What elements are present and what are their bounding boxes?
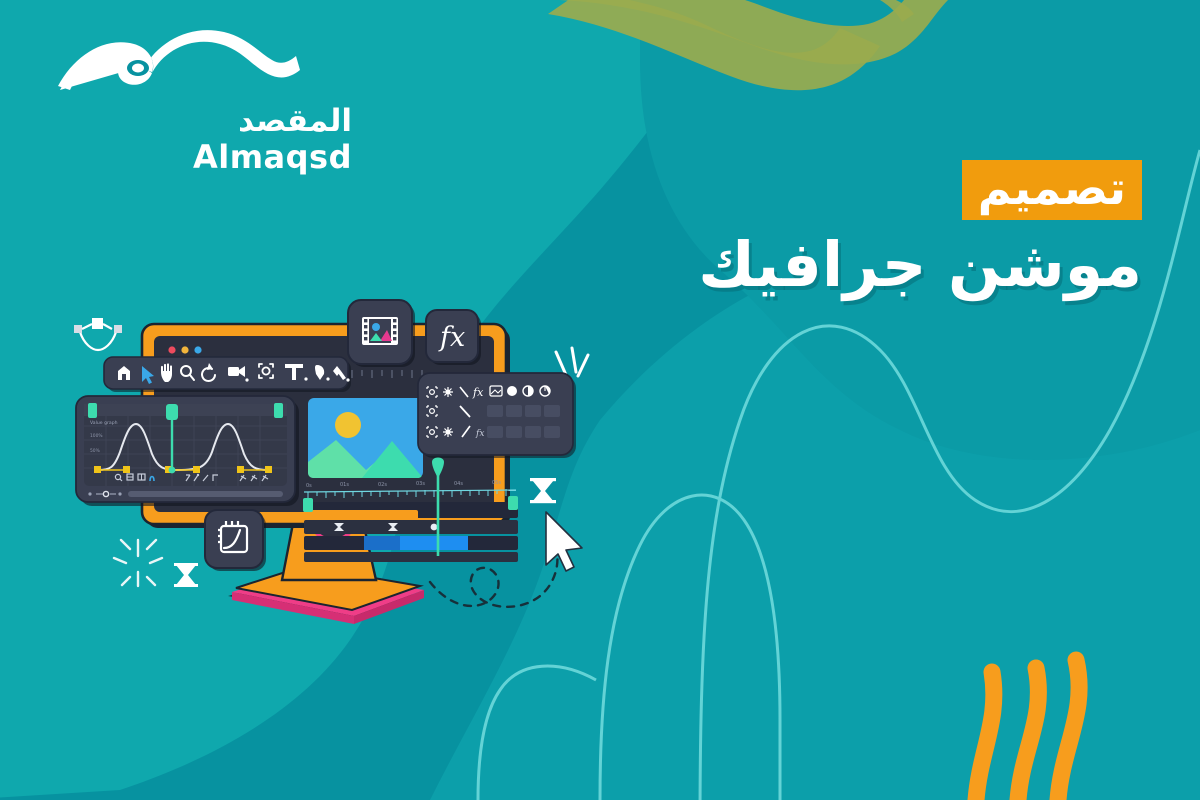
fx-icon[interactable]: fx — [475, 429, 484, 439]
ruler-label: 0s — [306, 483, 312, 489]
headline-main: موشن جرافيك — [698, 232, 1142, 297]
window-dots — [168, 346, 201, 353]
bezier-anchor-icon — [74, 318, 122, 350]
brand-name-latin: Almaqsd — [193, 141, 352, 173]
media-film-card[interactable] — [348, 300, 415, 367]
effects-and-presets[interactable]: fx — [418, 373, 576, 458]
mouse-cursor-icon — [546, 512, 582, 571]
composition-preview[interactable] — [308, 398, 423, 478]
graph-axis-label-1: 100% — [90, 433, 103, 439]
easing-chip-card[interactable] — [205, 510, 266, 571]
ruler-label: 01s — [340, 482, 349, 488]
headline-block: تصميم موشن جرافيك — [698, 160, 1142, 297]
speed-lines-icon — [556, 348, 588, 376]
ruler-label: 02s — [378, 482, 387, 488]
brand-logo[interactable]: المقصد Almaqsd — [52, 28, 352, 168]
star-icon[interactable] — [443, 387, 453, 397]
graph-axis-label-2: 50% — [90, 448, 100, 454]
hourglass-icon-left — [174, 563, 198, 587]
ruler-label: 05s — [492, 480, 501, 486]
sparkle-burst-icon — [114, 540, 162, 586]
ruler-label: 03s — [416, 481, 425, 487]
timeline-footer — [304, 552, 518, 562]
graph-title-label: Value graph — [90, 420, 118, 426]
tool-palette[interactable] — [104, 357, 351, 392]
hourglass-icon-right — [530, 478, 556, 503]
track-keyframes[interactable] — [304, 520, 518, 534]
film-strip-icon — [362, 317, 398, 345]
ruler-label: 04s — [454, 481, 463, 487]
fx-icon[interactable]: fx — [472, 386, 484, 399]
fx-icon: fx — [438, 322, 465, 353]
track-blue-clip[interactable] — [304, 536, 518, 550]
poster-canvas: Value graph 100% 50% — [0, 0, 1200, 800]
headline-badge: تصميم — [962, 160, 1142, 220]
almaqsd-wave-logo-icon — [52, 28, 307, 108]
graph-editor[interactable]: Value graph 100% 50% — [76, 396, 299, 506]
fx-card[interactable]: fx — [426, 310, 481, 365]
star-icon[interactable] — [443, 427, 453, 437]
preview-sun — [335, 412, 361, 438]
brand-name-arabic: المقصد — [238, 106, 352, 137]
sphere-icon[interactable] — [507, 386, 517, 396]
dot-marker[interactable] — [431, 524, 438, 531]
